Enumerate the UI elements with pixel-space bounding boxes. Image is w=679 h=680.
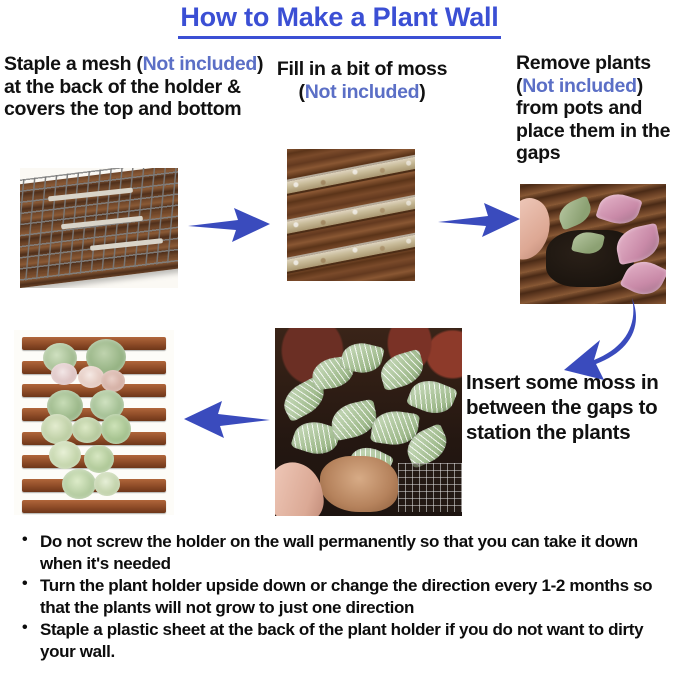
step-2-text-after: ) (419, 81, 425, 103)
arrow-curved-down-left-step3-to-step4 (520, 296, 646, 382)
succulent-13 (62, 469, 96, 499)
succulent-cluster (41, 339, 144, 509)
step-1-not-included-note: Not included (143, 53, 257, 75)
page-title-container: How to Make a Plant Wall (0, 2, 679, 39)
succulent-10 (101, 414, 131, 444)
step-1-text-before: Staple a mesh ( (4, 53, 143, 75)
step-1-caption: Staple a mesh (Not included) at the back… (4, 53, 264, 121)
succulent-14 (94, 472, 120, 496)
tips-list: Do not screw the holder on the wall perm… (18, 531, 666, 662)
succulent-4 (78, 366, 104, 388)
arrow-right-step2-to-step3 (436, 192, 522, 244)
list-item: Turn the plant holder upside down or cha… (18, 575, 666, 618)
step-3-not-included-note: Not included (522, 75, 636, 97)
arrow-left-step4-to-finished (180, 392, 272, 446)
moss-clump (320, 456, 399, 512)
succulent-9 (72, 417, 102, 443)
wall-frame (16, 332, 172, 513)
tips-list-container: Do not screw the holder on the wall perm… (18, 531, 666, 663)
moss-in-slats-photo (287, 149, 415, 281)
succulent-5 (101, 370, 125, 392)
step-3-caption: Remove plants (Not included) from pots a… (516, 52, 679, 165)
mesh-tray (398, 463, 462, 512)
list-item: Do not screw the holder on the wall perm… (18, 531, 666, 574)
page-title: How to Make a Plant Wall (178, 2, 500, 39)
hand-placing-plant-photo (520, 184, 666, 304)
infographic-page: How to Make a Plant Wall Staple a mesh (… (0, 0, 679, 680)
finished-plant-wall-photo (14, 330, 174, 515)
step-2-caption: Fill in a bit of moss (Not included) (262, 58, 462, 103)
succulent-3 (51, 363, 77, 385)
list-item: Staple a plastic sheet at the back of th… (18, 619, 666, 662)
fittonia-closeup-photo (275, 328, 462, 516)
step-2-not-included-note: Not included (305, 81, 419, 103)
succulent-8 (41, 414, 73, 444)
succulent-11 (49, 441, 81, 469)
succulent-12 (84, 445, 114, 473)
arrow-right-step1-to-step2 (186, 198, 272, 250)
mesh-on-wooden-holder-photo (20, 168, 178, 288)
